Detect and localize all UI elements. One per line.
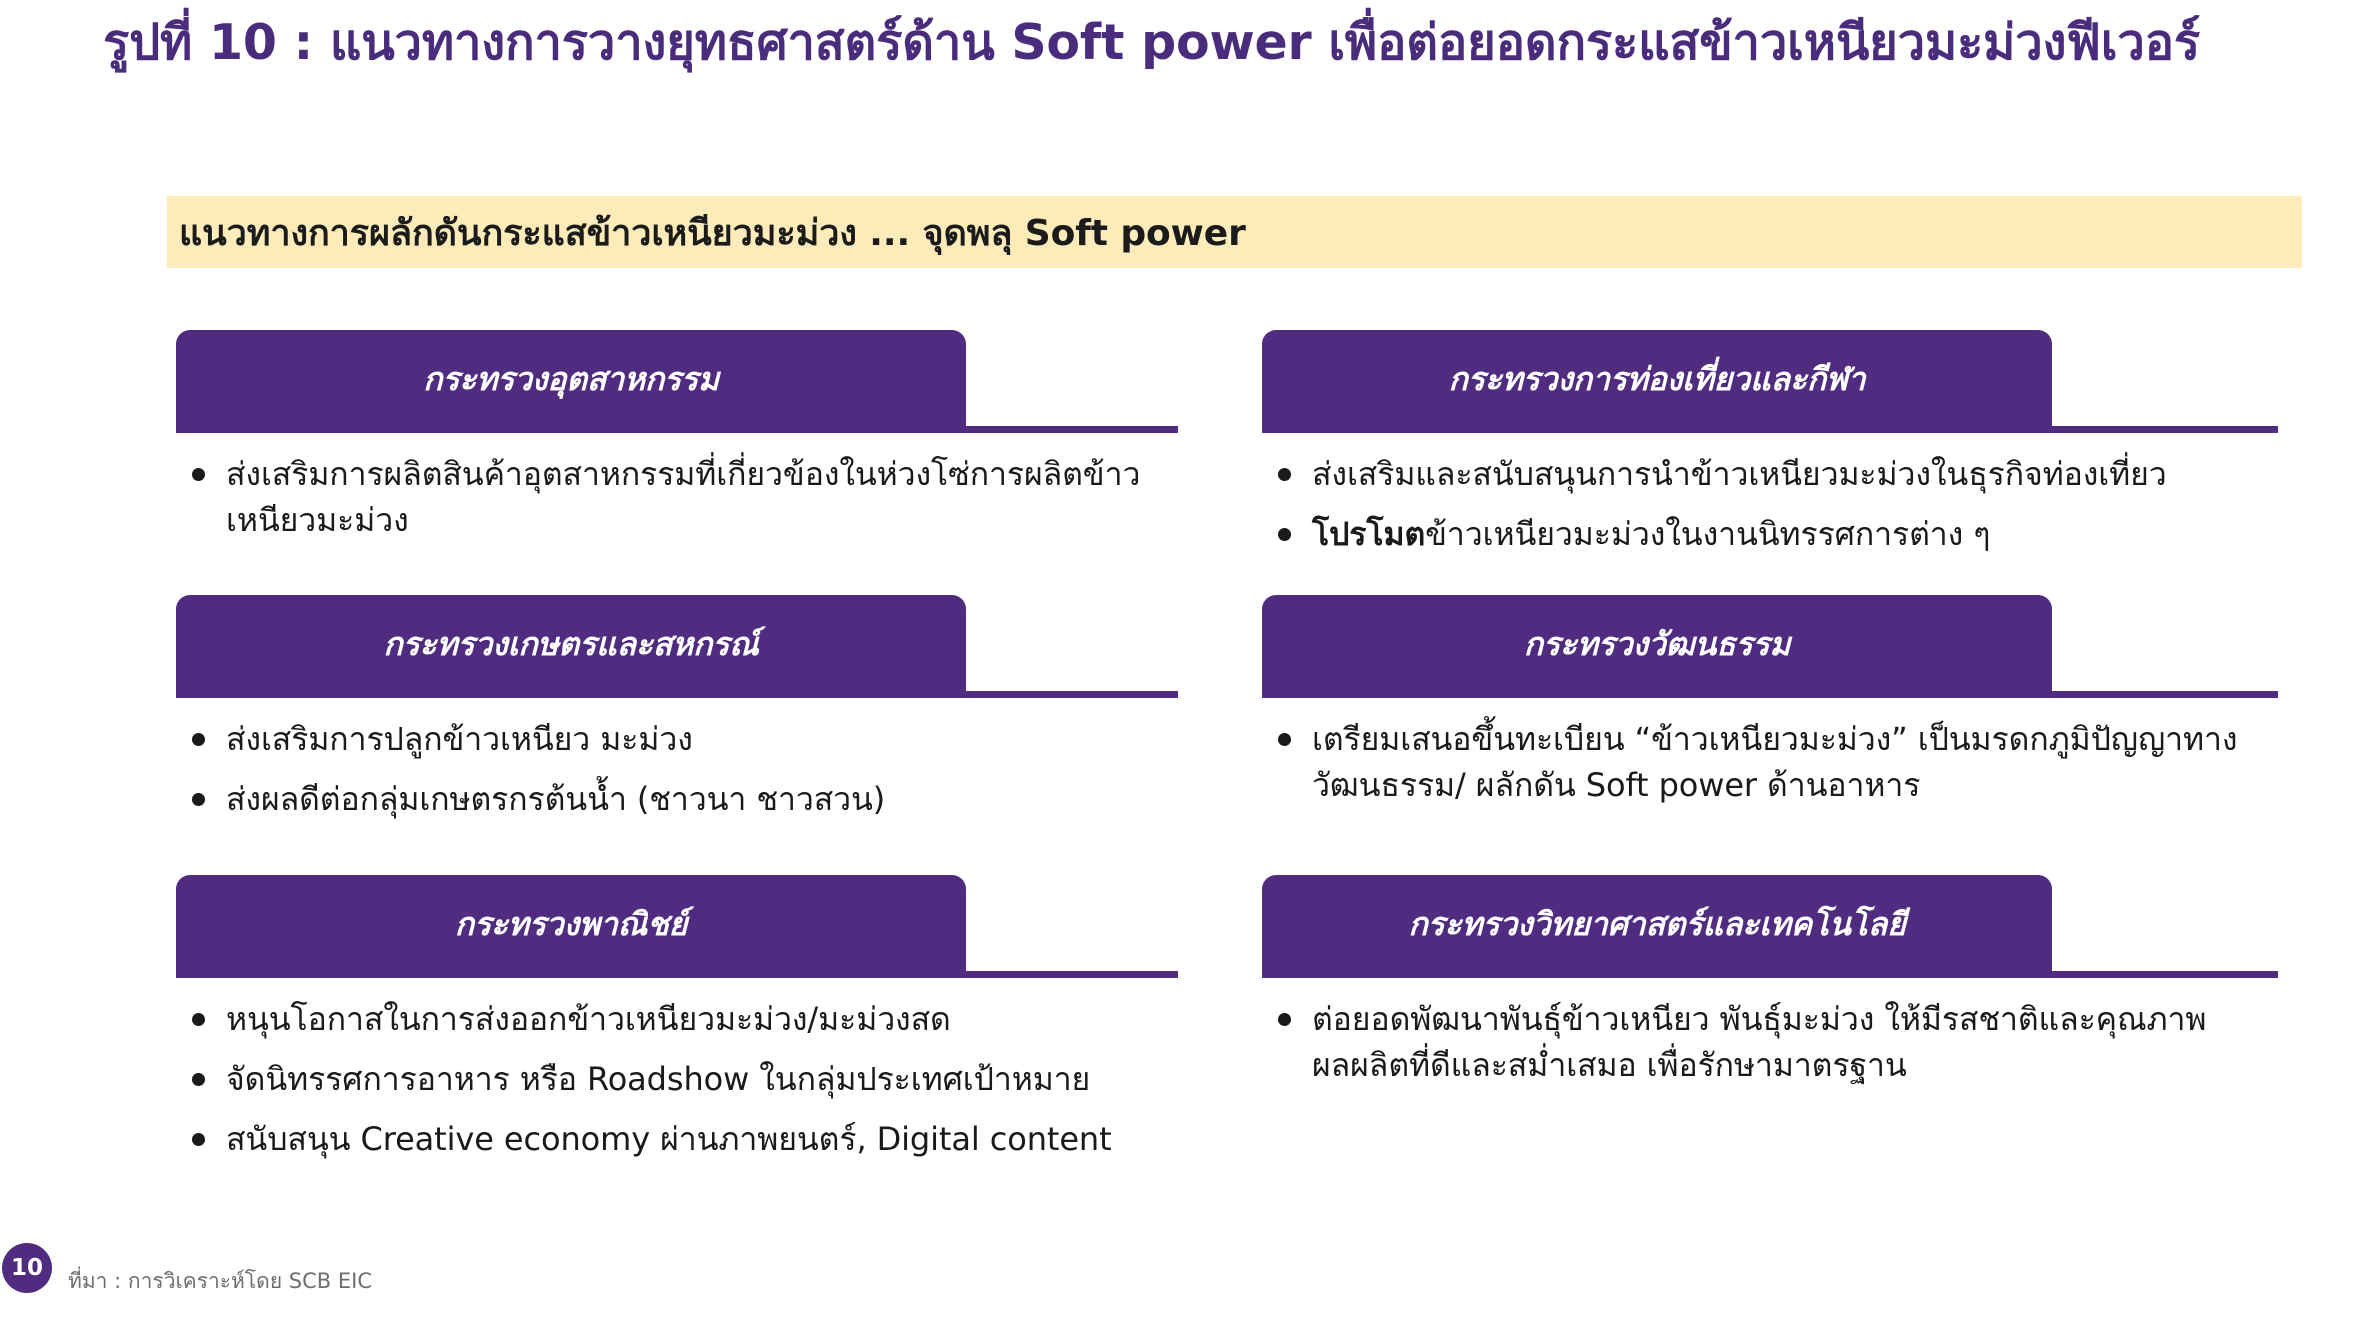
ministry-section: กระทรวงเกษตรและสหกรณ์ส่งเสริมการปลูกข้าว…: [176, 595, 1194, 836]
ministry-name: กระทรวงวัฒนธรรม: [1524, 619, 1791, 670]
ministry-name: กระทรวงการท่องเที่ยวและกีฬา: [1449, 354, 1866, 405]
bullet-item: โปรโมตข้าวเหนียวมะม่วงในงานนิทรรศการต่าง…: [1262, 511, 2280, 557]
page-number-badge: 10: [2, 1243, 52, 1293]
banner-label: แนวทางการผลักดันกระแสข้าวเหนียวมะม่วง ..…: [167, 204, 1246, 261]
ministry-header: กระทรวงการท่องเที่ยวและกีฬา: [1262, 330, 2280, 433]
ministry-name: กระทรวงอุตสาหกรรม: [423, 354, 719, 405]
ministry-bullet-list: ต่อยอดพัฒนาพันธุ์ข้าวเหนียว พันธุ์มะม่วง…: [1262, 978, 2280, 1088]
ministry-header: กระทรวงพาณิชย์: [176, 875, 1194, 978]
bullet-item: ต่อยอดพัฒนาพันธุ์ข้าวเหนียว พันธุ์มะม่วง…: [1262, 996, 2280, 1088]
ministry-header-box: กระทรวงการท่องเที่ยวและกีฬา: [1262, 330, 2052, 428]
ministry-section: กระทรวงวิทยาศาสตร์และเทคโนโลยีต่อยอดพัฒน…: [1262, 875, 2280, 1102]
ministry-name: กระทรวงพาณิชย์: [455, 899, 687, 950]
ministry-bullet-list: ส่งเสริมการปลูกข้าวเหนียว มะม่วงส่งผลดีต…: [176, 698, 1194, 822]
ministry-name: กระทรวงวิทยาศาสตร์และเทคโนโลยี: [1408, 899, 1905, 950]
section-banner: แนวทางการผลักดันกระแสข้าวเหนียวมะม่วง ..…: [167, 196, 2302, 268]
ministry-header-box: กระทรวงวิทยาศาสตร์และเทคโนโลยี: [1262, 875, 2052, 973]
bullet-item: จัดนิทรรศการอาหาร หรือ Roadshow ในกลุ่มป…: [176, 1056, 1194, 1102]
ministry-header: กระทรวงวิทยาศาสตร์และเทคโนโลยี: [1262, 875, 2280, 978]
ministry-name: กระทรวงเกษตรและสหกรณ์: [383, 619, 758, 670]
bullet-emphasis: โปรโมต: [1312, 515, 1425, 553]
content-columns: กระทรวงอุตสาหกรรมส่งเสริมการผลิตสินค้าอุ…: [0, 330, 2368, 1230]
ministry-header-box: กระทรวงพาณิชย์: [176, 875, 966, 973]
ministry-header: กระทรวงอุตสาหกรรม: [176, 330, 1194, 433]
ministry-header-box: กระทรวงอุตสาหกรรม: [176, 330, 966, 428]
page-title: รูปที่ 10 : แนวทางการวางยุทธศาสตร์ด้าน S…: [103, 14, 2298, 72]
ministry-bullet-list: ส่งเสริมและสนับสนุนการนำข้าวเหนียวมะม่วง…: [1262, 433, 2280, 557]
ministry-header: กระทรวงวัฒนธรรม: [1262, 595, 2280, 698]
ministry-bullet-list: ส่งเสริมการผลิตสินค้าอุตสาหกรรมที่เกี่ยว…: [176, 433, 1194, 543]
ministry-bullet-list: เตรียมเสนอขึ้นทะเบียน “ข้าวเหนียวมะม่วง”…: [1262, 698, 2280, 808]
ministry-header: กระทรวงเกษตรและสหกรณ์: [176, 595, 1194, 698]
ministry-header-box: กระทรวงวัฒนธรรม: [1262, 595, 2052, 693]
bullet-item: ส่งผลดีต่อกลุ่มเกษตรกรต้นน้ำ (ชาวนา ชาวส…: [176, 776, 1194, 822]
ministry-section: กระทรวงอุตสาหกรรมส่งเสริมการผลิตสินค้าอุ…: [176, 330, 1194, 557]
bullet-item: ส่งเสริมการปลูกข้าวเหนียว มะม่วง: [176, 716, 1194, 762]
ministry-section: กระทรวงการท่องเที่ยวและกีฬาส่งเสริมและสน…: [1262, 330, 2280, 571]
bullet-item: ส่งเสริมและสนับสนุนการนำข้าวเหนียวมะม่วง…: [1262, 451, 2280, 497]
bullet-item: เตรียมเสนอขึ้นทะเบียน “ข้าวเหนียวมะม่วง”…: [1262, 716, 2280, 808]
bullet-item: ส่งเสริมการผลิตสินค้าอุตสาหกรรมที่เกี่ยว…: [176, 451, 1194, 543]
ministry-bullet-list: หนุนโอกาสในการส่งออกข้าวเหนียวมะม่วง/มะม…: [176, 978, 1194, 1162]
ministry-section: กระทรวงวัฒนธรรมเตรียมเสนอขึ้นทะเบียน “ข้…: [1262, 595, 2280, 822]
bullet-item: สนับสนุน Creative economy ผ่านภาพยนตร์, …: [176, 1116, 1194, 1162]
ministry-header-box: กระทรวงเกษตรและสหกรณ์: [176, 595, 966, 693]
source-note: ที่มา : การวิเคราะห์โดย SCB EIC: [68, 1265, 372, 1298]
ministry-section: กระทรวงพาณิชย์หนุนโอกาสในการส่งออกข้าวเห…: [176, 875, 1194, 1176]
bullet-item: หนุนโอกาสในการส่งออกข้าวเหนียวมะม่วง/มะม…: [176, 996, 1194, 1042]
